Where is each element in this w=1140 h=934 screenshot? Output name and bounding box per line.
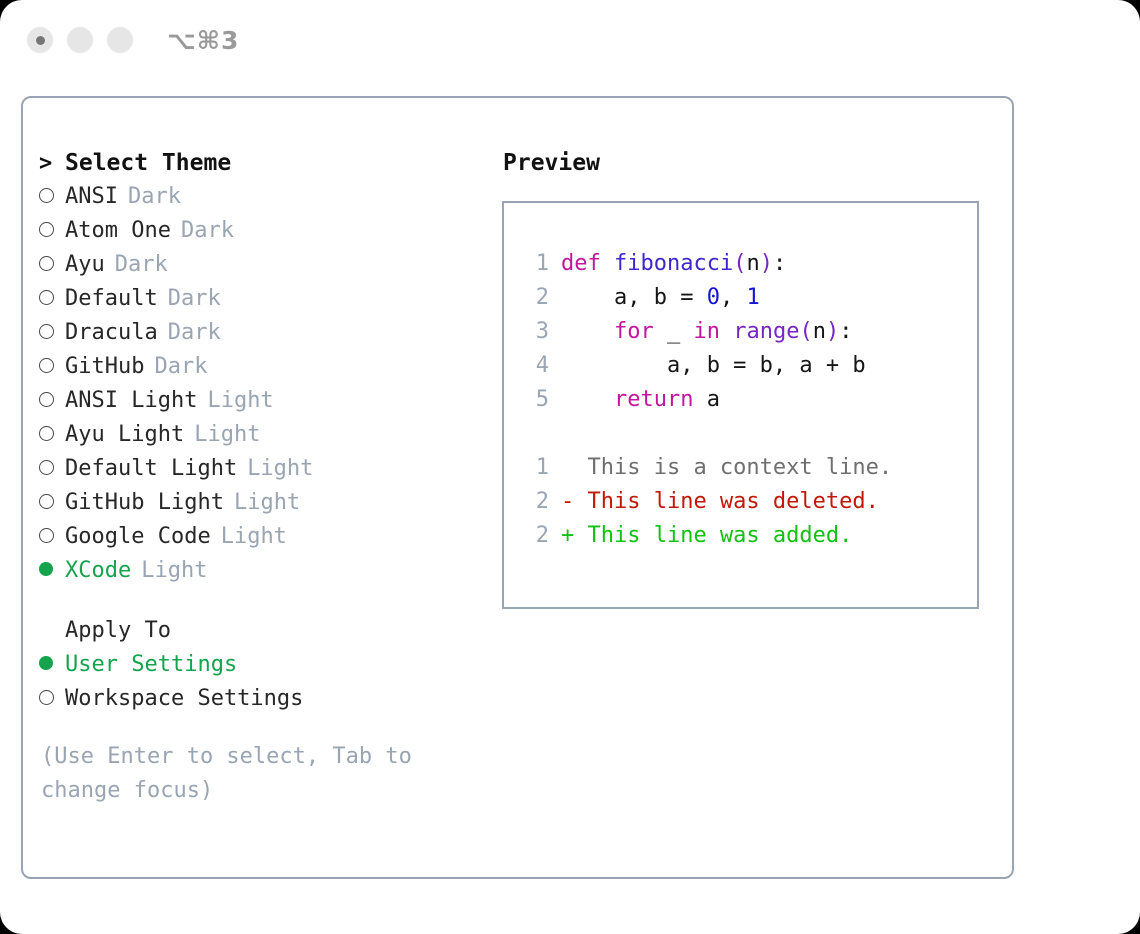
code-token: : (773, 251, 786, 276)
code-line: 4 a, b = b, a + b (504, 349, 977, 383)
code-token: _ (654, 319, 694, 344)
theme-kind-badge: Dark (168, 316, 221, 350)
code-sample: 1def fibonacci(n):2 a, b = 0, 13 for _ i… (504, 247, 977, 417)
radio-unselected-icon[interactable] (39, 316, 65, 350)
code-token: a, b = (561, 285, 707, 310)
code-line-content: a, b = b, a + b (561, 349, 866, 383)
theme-list-item[interactable]: AyuDark (39, 248, 499, 282)
spacer (504, 417, 977, 451)
theme-kind-badge: Light (234, 486, 300, 520)
app-window: ⌥⌘3 > Select Theme ANSIDarkAtom OneDarkA… (0, 0, 1140, 934)
theme-list-item[interactable]: ANSIDark (39, 180, 499, 214)
window-dot-2-icon[interactable] (67, 27, 93, 53)
caret-icon: > (39, 147, 65, 181)
select-theme-heading-row: > Select Theme (39, 146, 499, 180)
diff-line-text: This is a context line. (574, 455, 892, 480)
code-line: 5 return a (504, 383, 977, 417)
code-token: fibonacci (614, 251, 733, 276)
diff-sign: + (561, 519, 574, 553)
theme-list-item[interactable]: ANSI LightLight (39, 384, 499, 418)
theme-kind-badge: Dark (181, 214, 234, 248)
diff-line-number: 2 (521, 485, 549, 519)
theme-kind-badge: Light (194, 418, 260, 452)
spacer (39, 716, 499, 740)
apply-to-heading: Apply To (65, 614, 171, 648)
radio-unselected-icon[interactable] (39, 214, 65, 248)
theme-kind-badge: Dark (128, 180, 181, 214)
theme-list: ANSIDarkAtom OneDarkAyuDarkDefaultDarkDr… (39, 180, 499, 588)
radio-unselected-icon[interactable] (39, 282, 65, 316)
preview-heading: Preview (503, 146, 1002, 180)
theme-name-label: Default (65, 282, 158, 316)
radio-unselected-icon[interactable] (39, 452, 65, 486)
code-token: return (614, 387, 693, 412)
apply-to-option-label: User Settings (65, 648, 237, 682)
code-line: 2 a, b = 0, 1 (504, 281, 977, 315)
apply-to-options: User SettingsWorkspace Settings (39, 648, 499, 716)
diff-line: 1 This is a context line. (504, 451, 977, 485)
radio-unselected-icon[interactable] (39, 486, 65, 520)
page-title: Select Theme (65, 146, 231, 180)
theme-list-item[interactable]: GitHub LightLight (39, 486, 499, 520)
code-token: : (839, 319, 852, 344)
code-token: 1 (746, 285, 759, 310)
apply-to-option[interactable]: Workspace Settings (39, 682, 499, 716)
preview-panel: Preview 1def fibonacci(n):2 a, b = 0, 13… (502, 146, 1002, 609)
diff-line-text: This line was deleted. (574, 489, 879, 514)
theme-name-label: GitHub (65, 350, 144, 384)
diff-line: 2+ This line was added. (504, 519, 977, 553)
radio-unselected-icon[interactable] (39, 350, 65, 384)
theme-list-item[interactable]: GitHubDark (39, 350, 499, 384)
diff-line-number: 1 (521, 451, 549, 485)
code-token: in (693, 319, 720, 344)
card-content: > Select Theme ANSIDarkAtom OneDarkAyuDa… (23, 98, 1012, 877)
theme-name-label: Default Light (65, 452, 237, 486)
diff-line-content: + This line was added. (561, 519, 852, 553)
radio-unselected-icon[interactable] (39, 520, 65, 554)
theme-name-label: Atom One (65, 214, 171, 248)
code-token: a, b = b, a + b (561, 353, 866, 378)
theme-list-item[interactable]: DefaultDark (39, 282, 499, 316)
code-line-content: def fibonacci(n): (561, 247, 786, 281)
theme-kind-badge: Dark (154, 350, 207, 384)
preview-box: 1def fibonacci(n):2 a, b = 0, 13 for _ i… (502, 201, 979, 609)
diff-sign (561, 451, 574, 485)
code-line-number: 4 (521, 349, 549, 383)
settings-card: > Select Theme ANSIDarkAtom OneDarkAyuDa… (21, 96, 1014, 879)
diff-sample: 1 This is a context line.2- This line wa… (504, 451, 977, 553)
code-line: 1def fibonacci(n): (504, 247, 977, 281)
theme-kind-badge: Light (221, 520, 287, 554)
code-line-content: return a (561, 383, 720, 417)
code-token: , (720, 285, 747, 310)
theme-kind-badge: Light (207, 384, 273, 418)
code-token (561, 387, 614, 412)
theme-kind-badge: Light (141, 554, 207, 588)
apply-to-heading-row: Apply To (39, 614, 499, 648)
radio-unselected-icon[interactable] (39, 180, 65, 214)
diff-line-number: 2 (521, 519, 549, 553)
diff-line: 2- This line was deleted. (504, 485, 977, 519)
window-controls (27, 27, 133, 53)
theme-list-item[interactable]: Atom OneDark (39, 214, 499, 248)
code-token: ( (799, 319, 812, 344)
code-line: 3 for _ in range(n): (504, 315, 977, 349)
code-token: n (813, 319, 826, 344)
theme-list-item[interactable]: Google CodeLight (39, 520, 499, 554)
keyboard-shortcut-label: ⌥⌘3 (167, 28, 239, 53)
theme-name-label: ANSI Light (65, 384, 197, 418)
radio-selected-icon[interactable] (39, 554, 65, 588)
theme-kind-badge: Dark (115, 248, 168, 282)
code-line-number: 1 (521, 247, 549, 281)
code-token (561, 319, 614, 344)
diff-line-content: This is a context line. (561, 451, 892, 485)
radio-selected-icon[interactable] (39, 648, 65, 682)
theme-list-item[interactable]: Ayu LightLight (39, 418, 499, 452)
theme-list-item[interactable]: XCodeLight (39, 554, 499, 588)
diff-line-text: This line was added. (574, 523, 852, 548)
code-line-number: 5 (521, 383, 549, 417)
window-titlebar: ⌥⌘3 (0, 0, 1140, 80)
theme-name-label: Dracula (65, 316, 158, 350)
diff-sign: - (561, 485, 574, 519)
theme-name-label: ANSI (65, 180, 118, 214)
radio-unselected-icon[interactable] (39, 384, 65, 418)
code-token (720, 319, 733, 344)
code-token: range (733, 319, 799, 344)
theme-name-label: Google Code (65, 520, 211, 554)
window-dot-inner (36, 36, 45, 45)
code-token: for (614, 319, 654, 344)
theme-kind-badge: Light (247, 452, 313, 486)
theme-kind-badge: Dark (168, 282, 221, 316)
window-dot-3-icon[interactable] (107, 27, 133, 53)
keyboard-hint-text: (Use Enter to select, Tab to change focu… (41, 740, 456, 808)
code-line-number: 2 (521, 281, 549, 315)
diff-line-content: - This line was deleted. (561, 485, 879, 519)
apply-to-option[interactable]: User Settings (39, 648, 499, 682)
radio-unselected-icon[interactable] (39, 682, 65, 716)
radio-unselected-icon[interactable] (39, 418, 65, 452)
theme-selection-panel: > Select Theme ANSIDarkAtom OneDarkAyuDa… (39, 146, 499, 808)
code-token: ) (760, 251, 773, 276)
radio-unselected-icon[interactable] (39, 248, 65, 282)
code-token: n (746, 251, 759, 276)
theme-name-label: Ayu Light (65, 418, 184, 452)
code-line-content: for _ in range(n): (561, 315, 852, 349)
code-line-content: a, b = 0, 1 (561, 281, 760, 315)
theme-name-label: GitHub Light (65, 486, 224, 520)
window-dot-active-icon[interactable] (27, 27, 53, 53)
code-token: a (693, 387, 720, 412)
code-token: ( (733, 251, 746, 276)
theme-list-item[interactable]: Default LightLight (39, 452, 499, 486)
code-token: def (561, 251, 601, 276)
apply-to-option-label: Workspace Settings (65, 682, 303, 716)
code-token: 0 (707, 285, 720, 310)
theme-name-label: Ayu (65, 248, 105, 282)
theme-list-item[interactable]: DraculaDark (39, 316, 499, 350)
code-line-number: 3 (521, 315, 549, 349)
code-token (601, 251, 614, 276)
code-token: ) (826, 319, 839, 344)
spacer (39, 588, 499, 614)
theme-name-label: XCode (65, 554, 131, 588)
